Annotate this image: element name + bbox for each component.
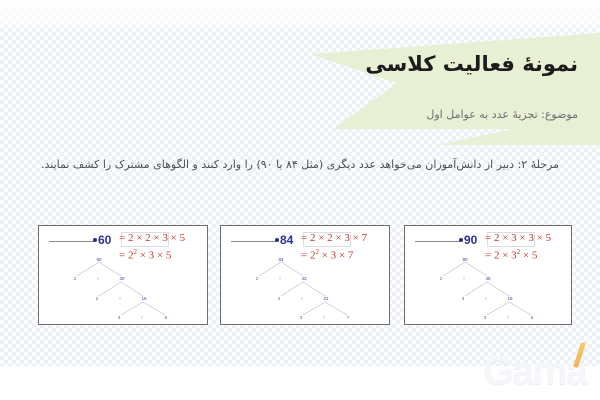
tree-node-l2-right: 21 [323,296,329,301]
factor-panel-60[interactable]: 60 = 2 × 2 × 3 × 5 = 22 × 3 × 5 60 2 × 3… [38,225,208,325]
tree-op-l1: × [279,276,282,281]
tree-node-l1-right: 45 [485,276,491,281]
factor-tree-diagram: 90 2 × 45 3 × 15 3 × 5 [405,252,575,324]
leader-line [415,241,461,242]
tree-node-l2-right: 15 [141,296,147,301]
watermark-logo: Gama [483,349,586,394]
tree-node-root: 60 [96,257,102,262]
tree-node-root: 84 [278,257,284,262]
leader-line [49,241,95,242]
equation-expanded: = 2 × 2 × 3 × 5 [119,231,207,247]
tree-node-l3-left: 3 [118,315,121,320]
panel-number-label: 90 [464,233,477,247]
leader-dot-icon [93,238,97,242]
tree-node-l1-right: 42 [301,276,307,281]
slide-canvas: نمونهٔ فعالیت کلاسی موضوع: تجزیهٔ عدد به… [0,0,600,400]
tree-op-l3: × [323,315,326,320]
tree-op-l2: × [119,296,122,301]
slide-subtitle: موضوع: تجزیهٔ عدد به عوامل اول [218,108,578,121]
factor-tree-diagram: 60 2 × 30 2 × 15 3 × 5 [39,252,209,324]
tree-node-l3-right: 7 [347,315,350,320]
tree-op-l2: × [301,296,304,301]
factor-panel-90[interactable]: 90 = 2 × 3 × 3 × 5 = 2 × 32 × 5 90 2 × 4… [404,225,572,325]
factor-tree-diagram: 84 2 × 42 2 × 21 3 × 7 [221,252,391,324]
tree-node-l1-left: 2 [440,276,443,281]
tree-node-l3-left: 3 [300,315,303,320]
tree-node-l2-left: 2 [96,296,99,301]
tree-node-l2-right: 15 [507,296,513,301]
tree-op-l3: × [507,315,510,320]
equation-expanded: = 2 × 3 × 3 × 5 [485,231,573,247]
factor-tree-panels: 60 = 2 × 2 × 3 × 5 = 22 × 3 × 5 60 2 × 3… [0,225,600,335]
tree-node-l1-left: 2 [74,276,77,281]
tree-node-l2-left: 2 [278,296,281,301]
tree-node-l2-left: 3 [462,296,465,301]
panel-number-label: 60 [98,233,111,247]
panel-number-label: 84 [280,233,293,247]
background-top-fade [0,0,600,34]
equation-expanded: = 2 × 2 × 3 × 7 [301,231,389,247]
tree-node-l1-left: 2 [256,276,259,281]
tree-node-root: 90 [462,257,468,262]
tree-node-l3-right: 5 [531,315,534,320]
tree-op-l1: × [97,276,100,281]
tree-op-l3: × [141,315,144,320]
tree-op-l2: × [485,296,488,301]
tree-op-l1: × [463,276,466,281]
tree-node-l3-right: 5 [165,315,168,320]
tree-node-l3-left: 3 [484,315,487,320]
leader-dot-icon [275,238,279,242]
instruction-text: مرحلهٔ ۲: دبیر از دانش‌آموزان می‌خواهد ع… [40,155,560,175]
tree-node-l1-right: 30 [119,276,125,281]
leader-line [231,241,277,242]
leader-dot-icon [459,238,463,242]
factor-panel-84[interactable]: 84 = 2 × 2 × 3 × 7 = 22 × 3 × 7 84 2 × 4… [220,225,390,325]
slide-title: نمونهٔ فعالیت کلاسی [248,52,578,76]
